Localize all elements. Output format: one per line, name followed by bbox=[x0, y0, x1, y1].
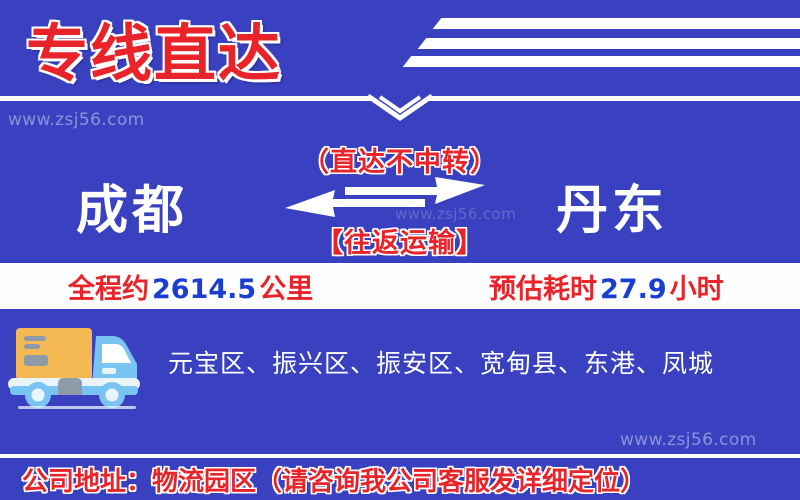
company-address: 公司地址：物流园区（请咨询我公司客服发详细定位） bbox=[22, 461, 646, 498]
roundtrip-label: 【往返运输】 bbox=[0, 221, 800, 260]
double-chevron-down-icon bbox=[366, 94, 434, 128]
delivery-truck-icon bbox=[4, 318, 150, 410]
coverage-districts: 元宝区、振兴区、振安区、宽甸县、东港、凤城 bbox=[168, 344, 714, 380]
watermark-top: www.zsj56.com bbox=[8, 110, 145, 130]
banner-title: 专线直达 bbox=[26, 3, 282, 93]
distance-value: 2614.5 bbox=[149, 274, 259, 305]
duration-value: 27.9 bbox=[597, 274, 670, 305]
distance-prefix: 全程约 bbox=[68, 274, 149, 305]
watermark-bottom: www.zsj56.com bbox=[620, 430, 757, 450]
duration-unit: 小时 bbox=[670, 274, 724, 305]
duration-info: 预估耗时27.9小时 bbox=[489, 267, 724, 306]
route-info-band: 全程约2614.5公里 预估耗时27.9小时 bbox=[0, 263, 800, 309]
direct-shipping-label: （直达不中转） bbox=[0, 140, 800, 179]
logistics-route-banner: 专线直达 www.zsj56.com www.zsj56.com www.zsj… bbox=[0, 0, 800, 500]
distance-unit: 公里 bbox=[259, 274, 313, 305]
header-divider-left bbox=[0, 96, 372, 101]
header-divider-right bbox=[428, 96, 800, 101]
bidirectional-arrow-icon bbox=[285, 177, 485, 217]
footer-divider bbox=[0, 454, 800, 458]
duration-prefix: 预估耗时 bbox=[489, 274, 597, 305]
distance-info: 全程约2614.5公里 bbox=[68, 267, 313, 306]
